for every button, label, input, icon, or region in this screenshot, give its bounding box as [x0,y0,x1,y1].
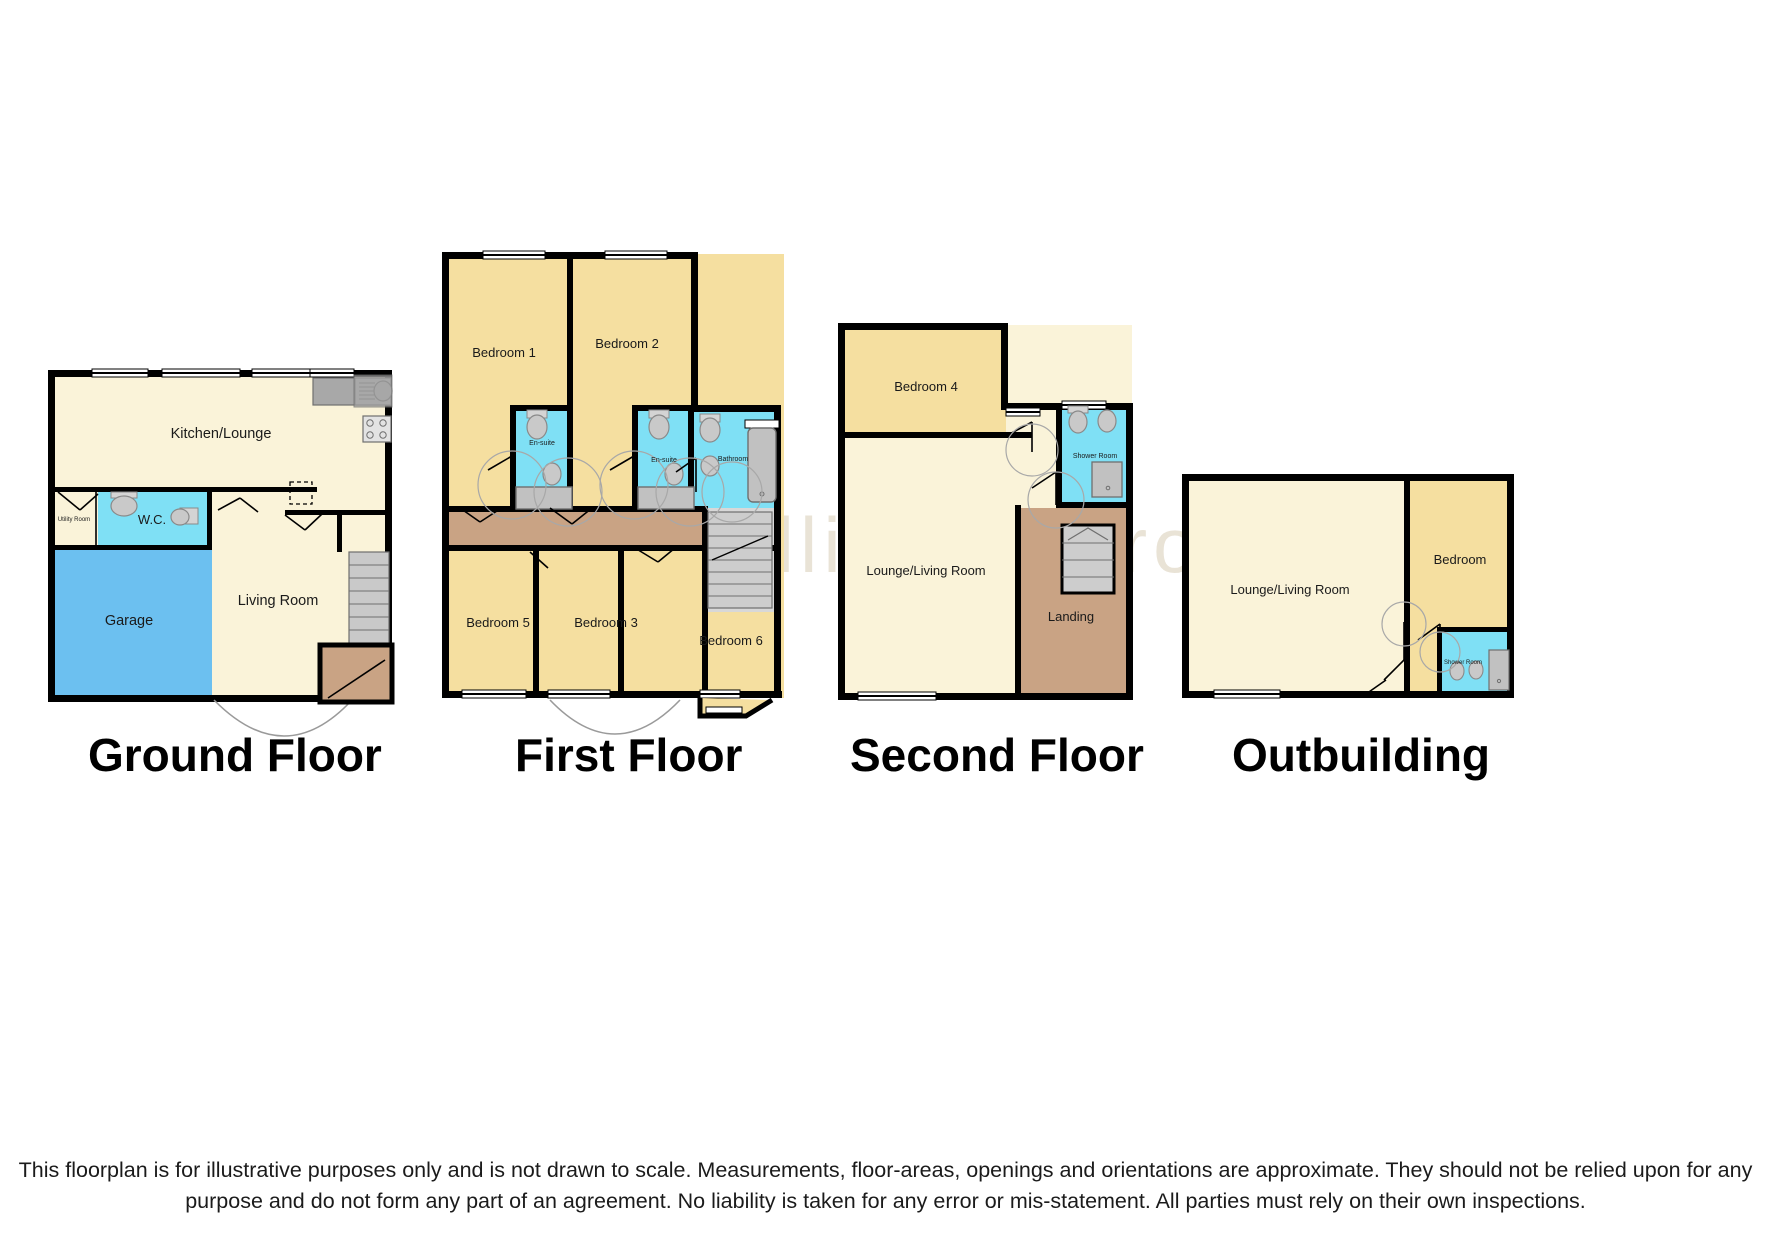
label-shower-room-outbuilding: Shower Room [1444,660,1482,666]
bay-window [700,698,772,716]
basin-icon [171,509,189,525]
floor-title-outbuilding: Outbuilding [1232,728,1490,782]
floor-block-ground: Kitchen/Lounge Utility Room W.C. Garage … [0,0,440,820]
outbuilding-windows [1214,690,1280,698]
label-bedroom-3: Bedroom 3 [574,615,638,630]
staircase-ground [349,552,389,644]
label-landing: Landing [1048,609,1094,624]
floor-block-second: Bedroom 4 Shower Room Lounge/Living Room… [810,0,1210,820]
label-bedroom-outbuilding: Bedroom [1434,552,1487,567]
staircase-first [708,512,772,608]
toilet-icon [700,418,720,442]
toilet-icon [111,496,137,516]
label-wc: W.C. [138,512,166,527]
toilet-icon [527,415,547,439]
hob-icon [363,416,391,442]
floor-block-outbuilding: Lounge/Living Room Bedroom Shower Room O… [1160,0,1560,820]
second-floor-drawing: Bedroom 4 Shower Room Lounge/Living Room… [810,0,1210,740]
floor-title-ground: Ground Floor [88,728,382,782]
basin-icon [1098,410,1116,432]
label-lounge-living-outbuilding: Lounge/Living Room [1230,582,1349,597]
disclaimer: This floorplan is for illustrative purpo… [0,1155,1771,1217]
floor-block-first: Bedroom 1 Bedroom 2 En-suite En-suite Ba… [400,0,840,820]
ground-windows [92,369,354,377]
first-floor-drawing: Bedroom 1 Bedroom 2 En-suite En-suite Ba… [400,0,840,740]
label-bedroom-6: Bedroom 6 [699,633,763,648]
ground-floor-drawing: Kitchen/Lounge Utility Room W.C. Garage … [0,0,440,740]
label-kitchen-lounge: Kitchen/Lounge [171,426,272,442]
kitchen-unit [354,375,392,407]
shower-tray-icon [1489,650,1509,690]
label-bathroom: Bathroom [718,456,749,463]
label-living-room: Living Room [238,593,319,609]
disclaimer-line-2: purpose and do not form any part of an a… [0,1186,1771,1217]
label-lounge-living-second: Lounge/Living Room [866,563,985,578]
staircase-second [1062,525,1114,593]
disclaimer-line-1: This floorplan is for illustrative purpo… [0,1155,1771,1186]
toilet-icon [649,415,669,439]
label-bedroom-1: Bedroom 1 [472,345,536,360]
toilet-icon [1069,411,1087,433]
outbuilding-drawing: Lounge/Living Room Bedroom Shower Room [1160,0,1560,740]
label-utility-room: Utility Room [58,517,90,523]
porch [320,645,392,702]
floor-title-second: Second Floor [850,728,1144,782]
label-bedroom-4: Bedroom 4 [894,379,958,394]
label-bedroom-5: Bedroom 5 [466,615,530,630]
label-ensuite-1: En-suite [529,440,555,447]
floor-title-first: First Floor [515,728,742,782]
label-bedroom-2: Bedroom 2 [595,336,659,351]
label-garage: Garage [105,613,153,629]
floorplan-stage: william h brown [0,0,1771,1240]
label-ensuite-2: En-suite [651,457,677,464]
shower-tray-icon [1092,462,1122,497]
label-shower-room-second: Shower Room [1073,453,1118,460]
